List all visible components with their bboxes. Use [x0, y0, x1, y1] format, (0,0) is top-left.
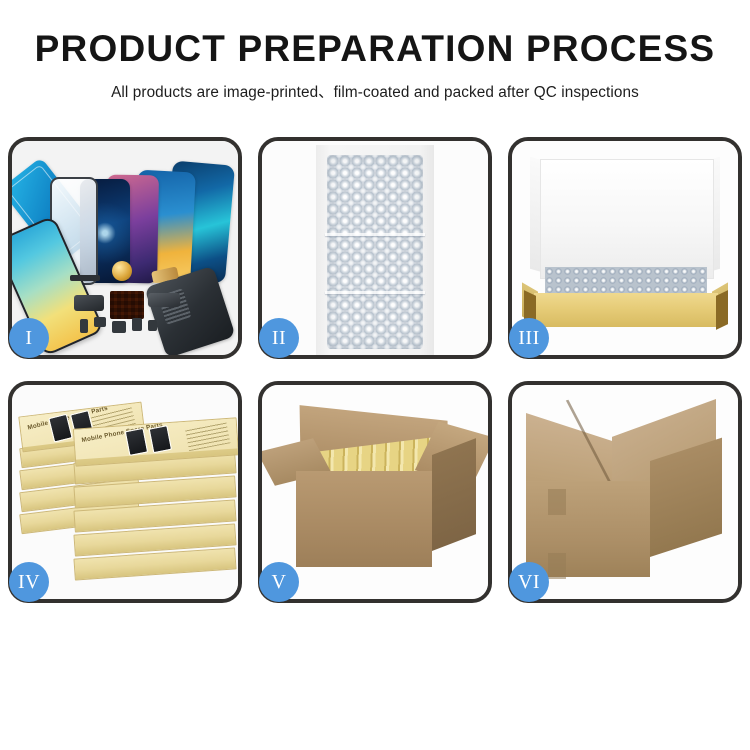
page-title: PRODUCT PREPARATION PROCESS [0, 30, 750, 69]
stacked-retail-boxes-image: Mobile Phone Spare Parts [12, 385, 238, 599]
carton-front-face [296, 471, 432, 567]
phone-parts-assortment-image [12, 141, 238, 355]
component-2 [94, 317, 106, 327]
box-spec-lines-right [185, 422, 230, 452]
box-front-kraft [534, 293, 718, 327]
chip-array-part [110, 291, 144, 319]
small-components [78, 317, 178, 343]
step-badge-1: I [9, 318, 49, 358]
step-panel-5: V [258, 381, 492, 603]
box-stack: Mobile Phone Spare Parts [18, 401, 232, 591]
box-lid-white [540, 159, 714, 279]
step-badge-3: III [509, 318, 549, 358]
flex-cable-part-3 [148, 293, 180, 307]
component-1 [80, 319, 88, 333]
bubble-wrap-pouch-image [262, 141, 488, 355]
component-3 [112, 321, 126, 333]
step-panel-1: I [8, 137, 242, 359]
carton-tape-lower [548, 553, 566, 579]
step-panel-3: III [508, 137, 742, 359]
step-badge-5: V [259, 562, 299, 602]
step-badge-4: IV [9, 562, 49, 602]
gold-connector-part [151, 266, 179, 283]
spare-parts-cluster [70, 257, 188, 347]
carton-side-face [432, 438, 476, 551]
step-panel-6: VI [508, 381, 742, 603]
component-4 [132, 318, 142, 331]
speaker-part-icon [112, 261, 132, 281]
open-kraft-box-image [512, 141, 738, 355]
box-phone-image-r2 [149, 425, 172, 453]
open-carton-image [262, 385, 488, 599]
step-panel-2: II [258, 137, 492, 359]
step-panel-4: Mobile Phone Spare Parts [8, 381, 242, 603]
carton-tape-upper [548, 489, 566, 515]
pouch-seam-bottom [325, 291, 425, 294]
step-badge-6: VI [509, 562, 549, 602]
process-steps-grid: I II III [8, 137, 742, 603]
flex-cable-part-2 [74, 295, 104, 311]
flex-cable-part-1 [70, 275, 100, 281]
sealed-carton-image [512, 385, 738, 599]
step-badge-2: II [259, 318, 299, 358]
bubble-wrap-sheet [327, 155, 423, 349]
product-preparation-infographic: PRODUCT PREPARATION PROCESS All products… [0, 0, 750, 750]
header: PRODUCT PREPARATION PROCESS All products… [0, 0, 750, 102]
carton-front-face [526, 481, 650, 577]
page-subtitle: All products are image-printed、film-coat… [0, 80, 750, 102]
component-5 [148, 320, 157, 331]
pouch-seam-top [325, 233, 425, 236]
